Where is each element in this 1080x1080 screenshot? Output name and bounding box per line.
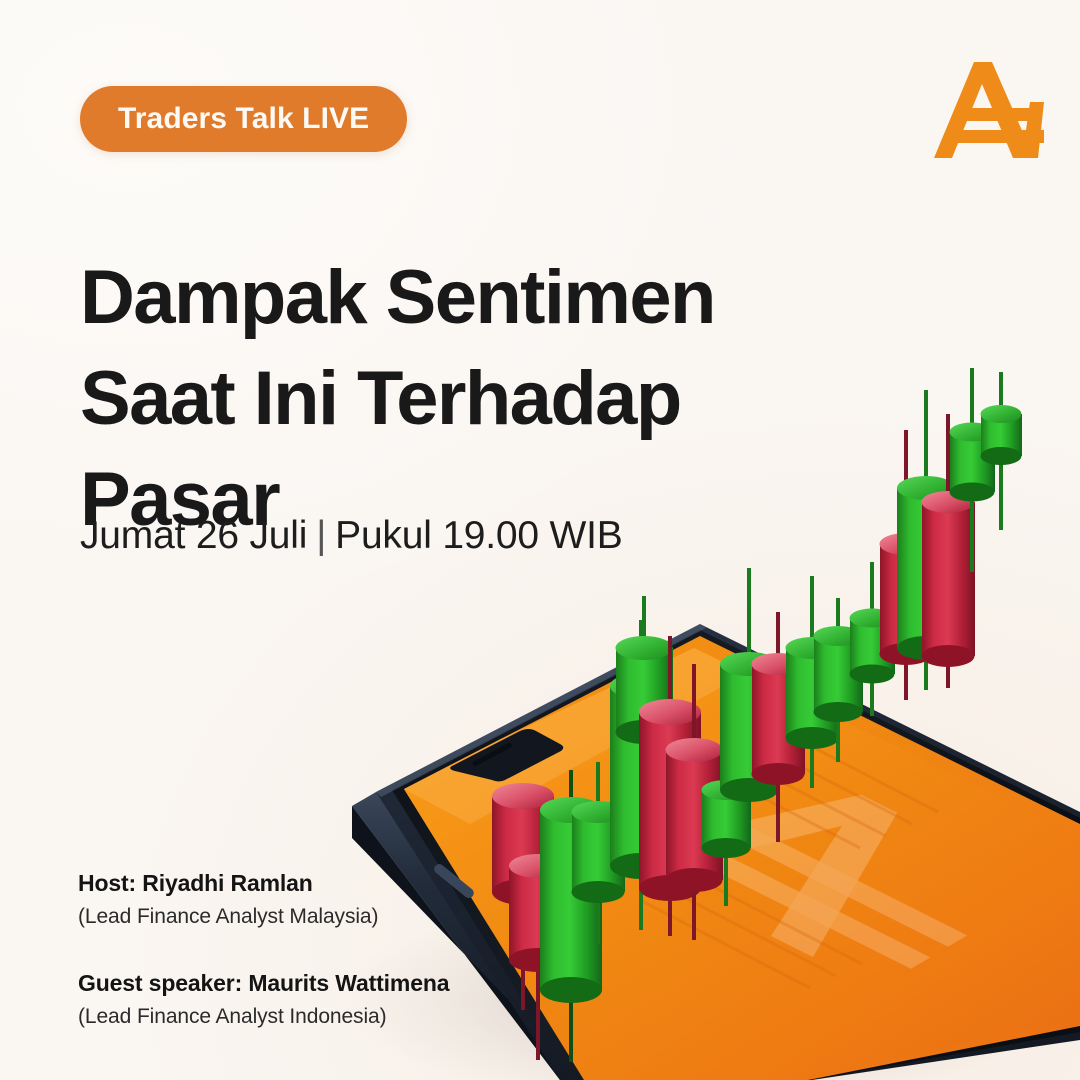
page-title: Dampak Sentimen Saat Ini Terhadap Pasar bbox=[80, 247, 820, 550]
candle-15-bearish bbox=[880, 430, 934, 700]
candle-13-bullish bbox=[814, 598, 864, 762]
brand-a-logo-icon bbox=[934, 58, 1044, 164]
candle-18-bullish bbox=[950, 368, 996, 572]
candle-9-bullish bbox=[702, 748, 752, 906]
credit-host-name: Host: Riyadhi Ramlan bbox=[78, 866, 598, 901]
candle-5-bullish bbox=[610, 620, 672, 930]
candle-8-bearish bbox=[666, 664, 724, 940]
promo-poster: Traders Talk LIVE Dampak Sentimen Saat I… bbox=[0, 0, 1080, 1080]
phone-edge-highlight bbox=[376, 624, 706, 797]
candle-12-bullish bbox=[786, 576, 840, 788]
live-badge[interactable]: Traders Talk LIVE bbox=[80, 86, 407, 152]
candle-7-bearish bbox=[639, 636, 701, 936]
phone-notch bbox=[450, 729, 563, 782]
event-schedule: Jumat 26 Juli|Pukul 19.00 WIB bbox=[80, 514, 623, 558]
candle-6-bullish bbox=[616, 596, 674, 820]
credit-guest: Guest speaker: Maurits Wattimena (Lead F… bbox=[78, 966, 598, 1032]
headline-line-1: Dampak Sentimen bbox=[80, 247, 820, 348]
headline-line-2: Saat Ini Terhadap bbox=[80, 348, 820, 449]
candle-19-bullish bbox=[981, 372, 1023, 530]
speaker-credits: Host: Riyadhi Ramlan (Lead Finance Analy… bbox=[78, 866, 598, 1032]
live-badge-label: Traders Talk LIVE bbox=[118, 102, 369, 136]
credit-guest-role: (Lead Finance Analyst Indonesia) bbox=[78, 1001, 598, 1033]
credit-guest-name: Guest speaker: Maurits Wattimena bbox=[78, 966, 598, 1001]
candle-10-bullish bbox=[720, 568, 778, 802]
screen-watermark-logo bbox=[605, 752, 1047, 989]
event-time: Pukul 19.00 WIB bbox=[335, 514, 622, 557]
screen-grid-lines bbox=[640, 724, 938, 988]
schedule-separator: | bbox=[307, 514, 335, 558]
candle-14-bullish bbox=[850, 562, 896, 716]
candle-17-bearish bbox=[922, 414, 976, 688]
phone-earpiece bbox=[472, 742, 513, 767]
credit-host-role: (Lead Finance Analyst Malaysia) bbox=[78, 901, 598, 933]
candle-16-bullish bbox=[897, 390, 955, 690]
credit-host: Host: Riyadhi Ramlan (Lead Finance Analy… bbox=[78, 866, 598, 932]
candle-11-bearish bbox=[752, 612, 806, 842]
event-date: Jumat 26 Juli bbox=[80, 514, 307, 557]
